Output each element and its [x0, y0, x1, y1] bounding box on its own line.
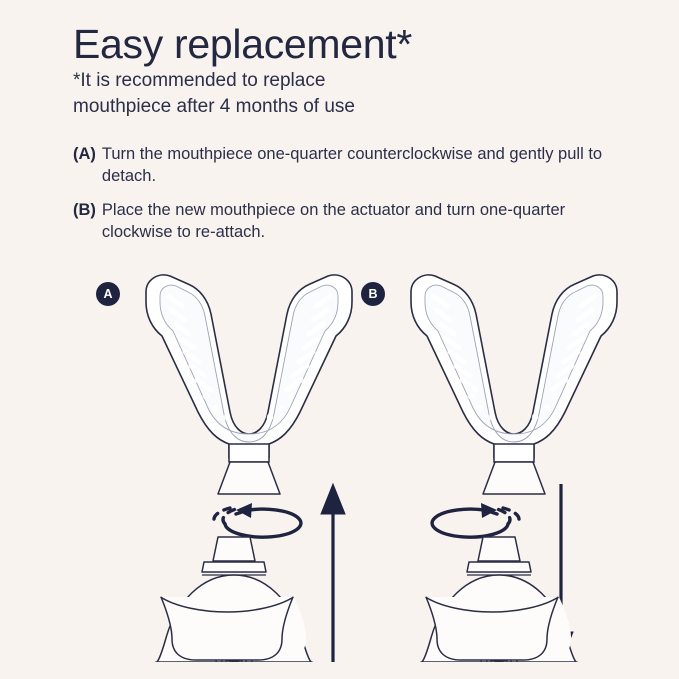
- diagram-area: A: [0, 262, 679, 662]
- panel-a: A: [84, 262, 384, 662]
- illustration-page: Easy replacement* *It is recommended to …: [0, 0, 679, 679]
- step-key-a: (A): [73, 143, 96, 165]
- u-shaped-mouthpiece-tray: [411, 275, 617, 494]
- panel-b-artwork: [349, 262, 649, 662]
- page-subtitle: *It is recommended to replace mouthpiece…: [73, 68, 403, 119]
- steps-list: (A) Turn the mouthpiece one-quarter coun…: [73, 143, 633, 255]
- step-text-a: Turn the mouthpiece one-quarter counterc…: [102, 143, 633, 188]
- step-item-a: (A) Turn the mouthpiece one-quarter coun…: [73, 143, 633, 188]
- panel-a-device-lower: [84, 262, 384, 662]
- step-text-b: Place the new mouthpiece on the actuator…: [102, 199, 633, 244]
- step-item-b: (B) Place the new mouthpiece on the actu…: [73, 199, 633, 244]
- actuator-base-device: [421, 537, 577, 662]
- step-key-b: (B): [73, 199, 96, 221]
- panel-b: B: [349, 262, 649, 662]
- heading-block: Easy replacement* *It is recommended to …: [73, 22, 613, 119]
- page-title: Easy replacement*: [73, 22, 613, 66]
- clockwise-arrowhead: [481, 503, 497, 518]
- clockwise-rotation-icon: [432, 508, 519, 537]
